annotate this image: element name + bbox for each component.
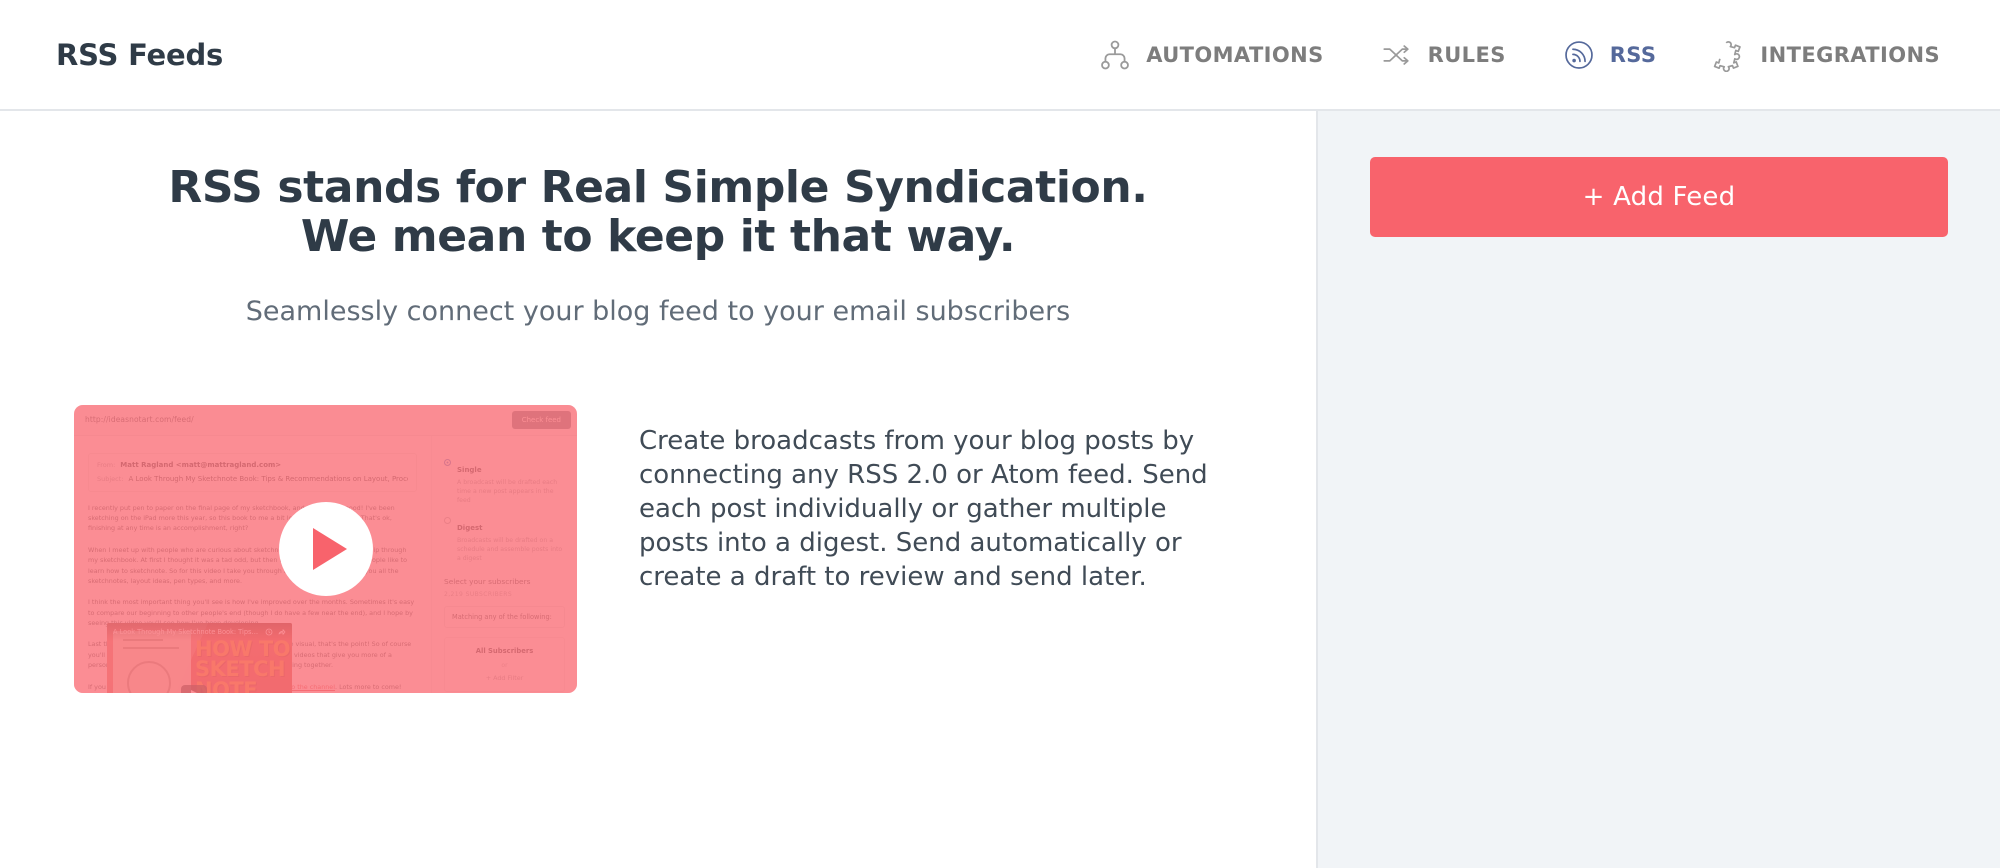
app-header: RSS Feeds AUTOMATIONS [0, 0, 2000, 111]
play-triangle-icon [313, 528, 347, 570]
puzzle-piece-icon [1712, 38, 1746, 72]
rss-feeds-page: RSS Feeds AUTOMATIONS [0, 0, 2000, 868]
main-content: RSS stands for Real Simple Syndication. … [0, 111, 1316, 868]
video-thumbnail[interactable]: http://ideasnotart.com/feed/ Check feed … [74, 405, 577, 693]
hero-title-line-2: We mean to keep it that way. [98, 212, 1218, 261]
right-sidebar: + Add Feed [1316, 111, 2000, 868]
hero-subtitle: Seamlessly connect your blog feed to you… [60, 294, 1256, 329]
nav-item-rss[interactable]: RSS [1562, 38, 1657, 72]
hero-title: RSS stands for Real Simple Syndication. … [98, 163, 1218, 262]
hero-title-line-1: RSS stands for Real Simple Syndication. [98, 163, 1218, 212]
primary-nav: AUTOMATIONS RULES [1098, 38, 1940, 72]
nav-item-automations[interactable]: AUTOMATIONS [1098, 38, 1323, 72]
page-body: RSS stands for Real Simple Syndication. … [0, 111, 2000, 868]
nav-label-integrations: INTEGRATIONS [1760, 43, 1940, 67]
promo-section: http://ideasnotart.com/feed/ Check feed … [60, 405, 1256, 693]
rss-circle-icon [1562, 38, 1596, 72]
nav-label-rules: RULES [1428, 43, 1506, 67]
nav-label-rss: RSS [1610, 43, 1657, 67]
nav-item-integrations[interactable]: INTEGRATIONS [1712, 38, 1940, 72]
shuffle-arrows-icon [1380, 38, 1414, 72]
page-title: RSS Feeds [56, 38, 223, 72]
play-button[interactable] [279, 502, 373, 596]
nav-label-automations: AUTOMATIONS [1146, 43, 1323, 67]
add-feed-button[interactable]: + Add Feed [1370, 157, 1948, 237]
automations-node-tree-icon [1098, 38, 1132, 72]
promo-paragraph: Create broadcasts from your blog posts b… [639, 405, 1239, 594]
nav-item-rules[interactable]: RULES [1380, 38, 1506, 72]
